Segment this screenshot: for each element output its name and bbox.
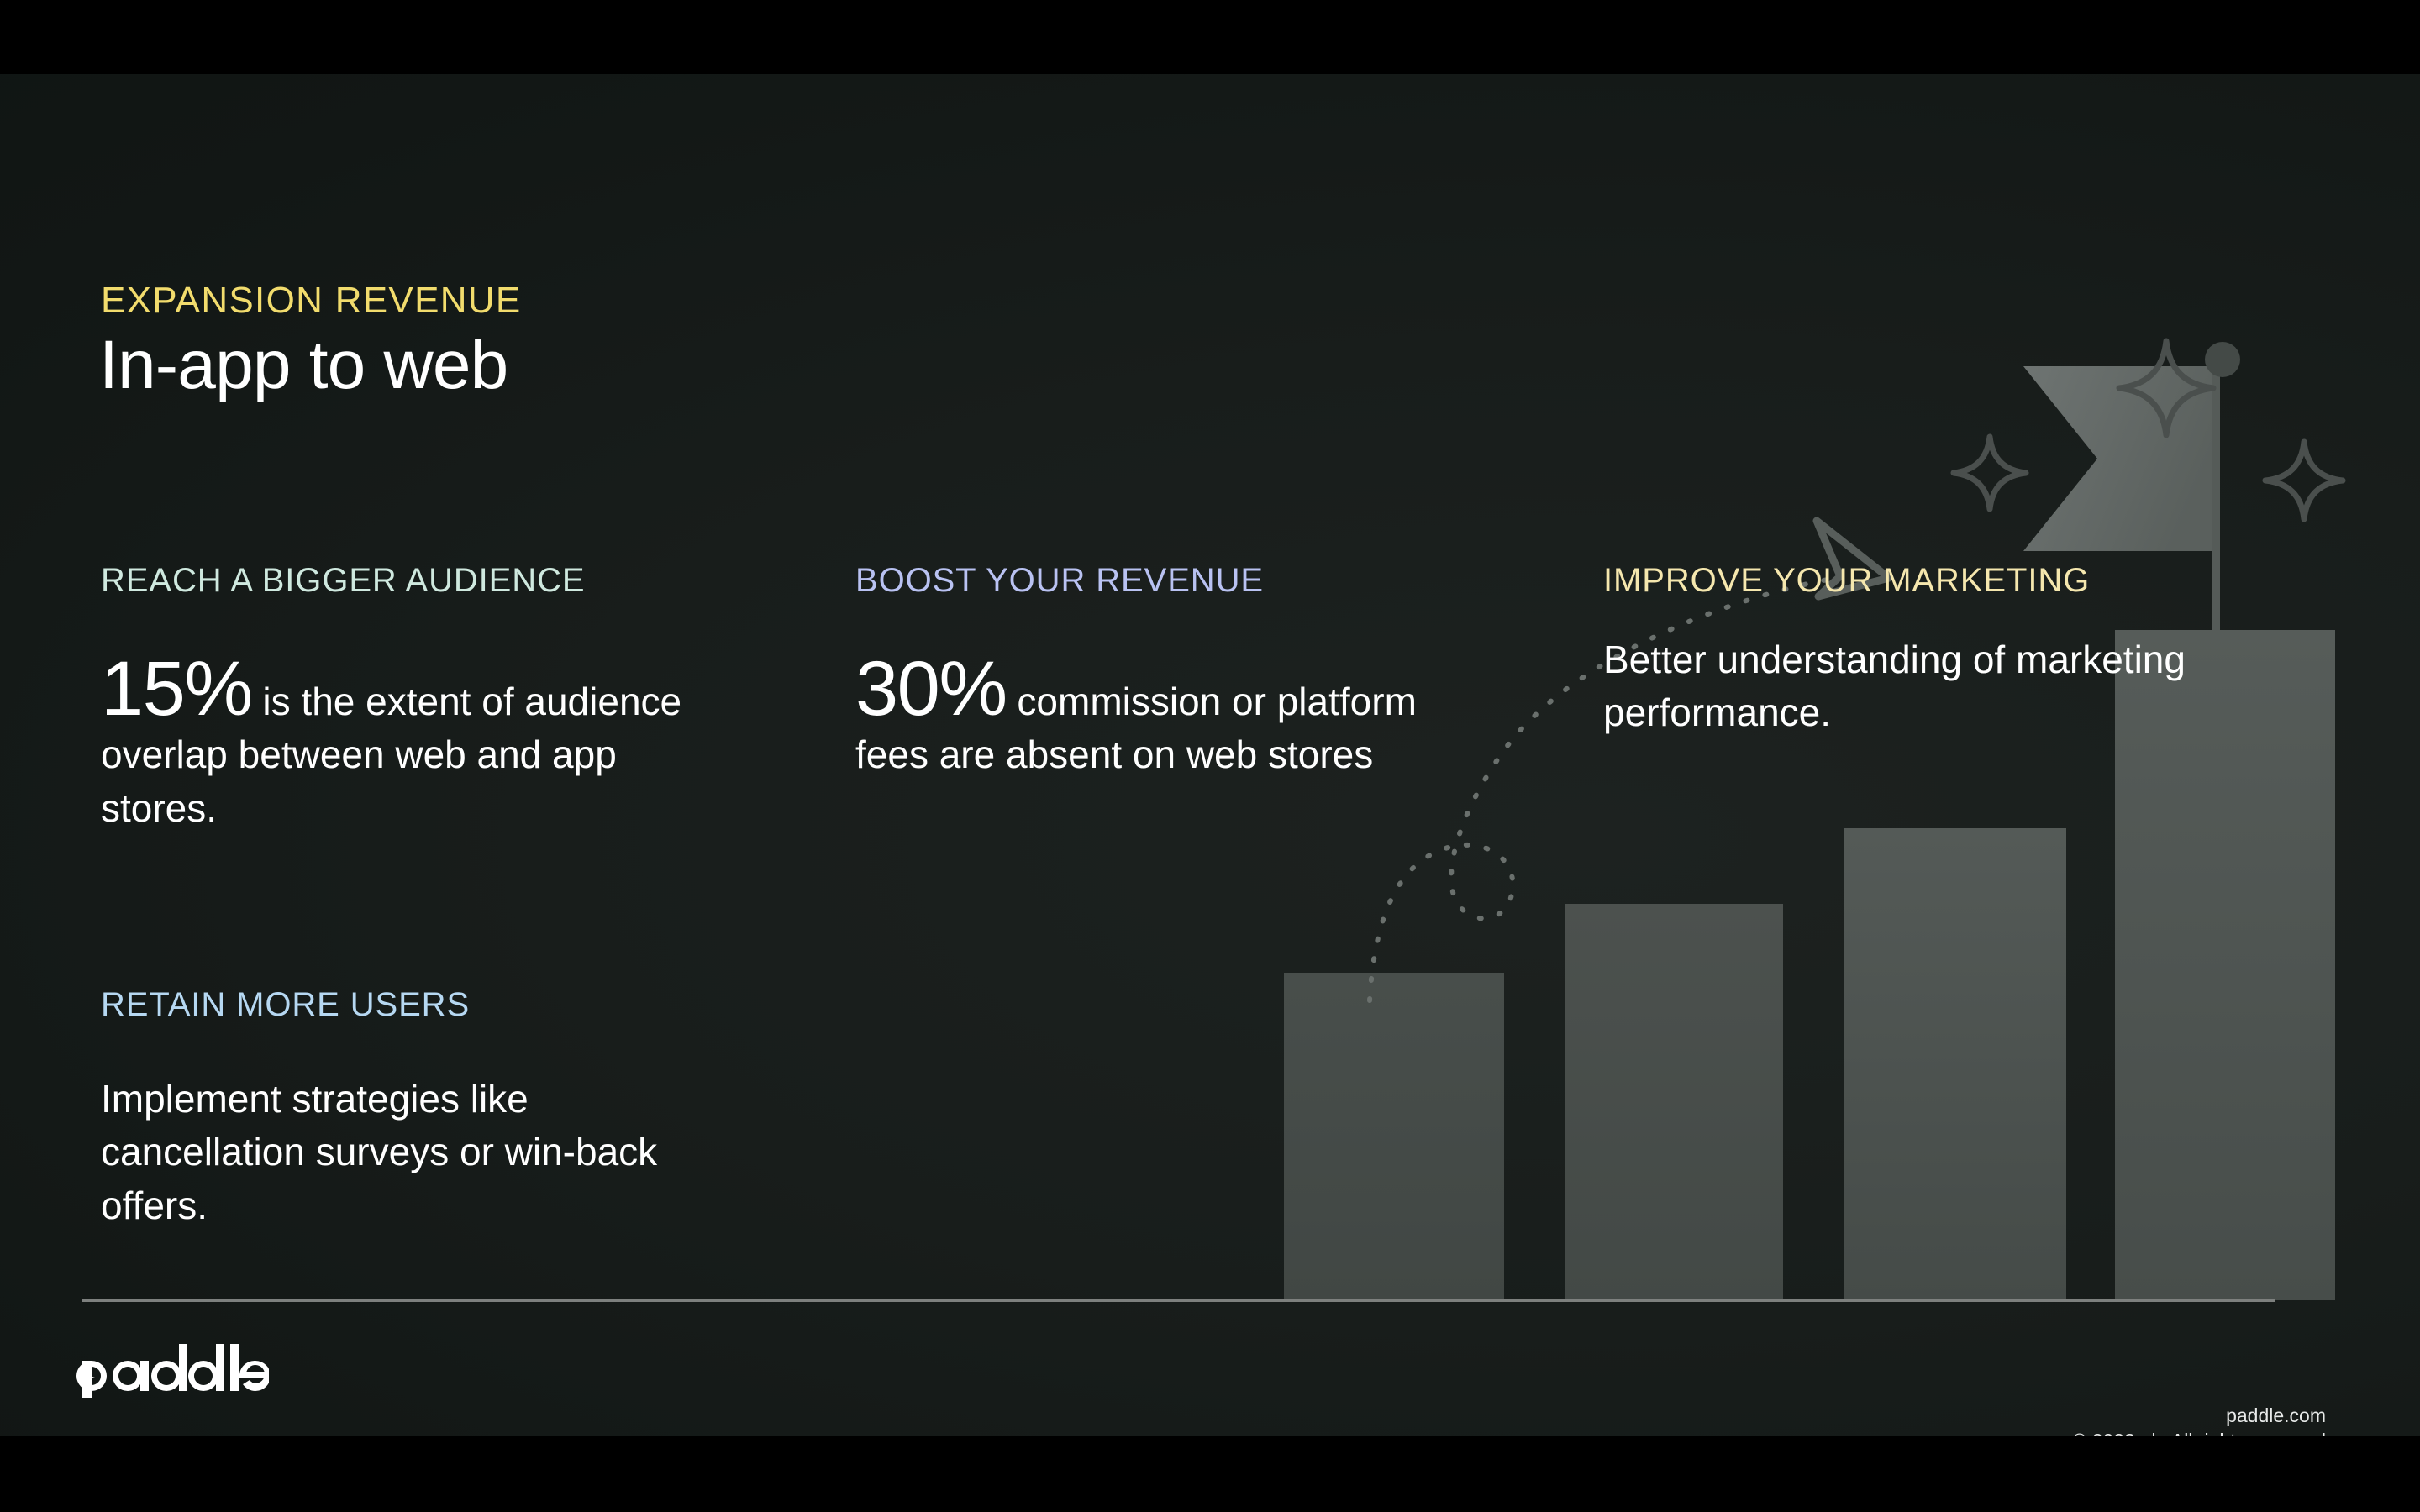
stat-value-revenue: 30% <box>855 646 1007 732</box>
body-text-marketing: Better understanding of marketing perfor… <box>1603 633 2191 740</box>
stat-tail-audience: is the extent of <box>252 680 514 723</box>
body-text-retain: Implement strategies like cancellation s… <box>101 1073 689 1232</box>
paddle-logo <box>74 1341 269 1405</box>
sparkle-icon-left <box>1954 437 2026 509</box>
stat-value-audience: 15% <box>101 646 252 732</box>
sparkle-icon-top <box>2119 341 2213 435</box>
bar-3 <box>1844 828 2066 1300</box>
column-retain-users: RETAIN MORE USERS Implement strategies l… <box>101 985 689 1232</box>
flag-finial <box>2205 342 2240 377</box>
bar-1 <box>1284 973 1504 1300</box>
stat-block-audience: 15% is the extent of audience overlap be… <box>101 650 706 835</box>
flag-pole <box>2212 368 2220 630</box>
footer-meta: paddle.com © 2023 | All rights reserved <box>2072 1403 2326 1436</box>
flag-banner <box>2023 366 2218 551</box>
column-boost-revenue: BOOST YOUR REVENUE 30% commission or pla… <box>855 561 1427 782</box>
bar-2 <box>1565 904 1783 1300</box>
kicker-improve-marketing: IMPROVE YOUR MARKETING <box>1603 561 2191 600</box>
letterbox-bottom <box>0 1436 2420 1512</box>
slide-eyebrow: EXPANSION REVENUE <box>101 280 522 322</box>
sparkle-group <box>1954 341 2343 519</box>
page-title: In-app to web <box>99 326 508 405</box>
column-reach-audience: REACH A BIGGER AUDIENCE 15% is the exten… <box>101 561 706 835</box>
sparkle-icon-right <box>2265 442 2343 519</box>
paddle-wordmark-icon <box>74 1341 269 1401</box>
letterbox-top <box>0 0 2420 74</box>
footer-divider <box>82 1299 2275 1302</box>
slide-canvas: EXPANSION REVENUE In-app to web REACH A … <box>0 74 2420 1436</box>
stat-tail-revenue: commission or <box>1007 680 1266 723</box>
kicker-retain-users: RETAIN MORE USERS <box>101 985 689 1024</box>
slide-stage: EXPANSION REVENUE In-app to web REACH A … <box>0 0 2420 1512</box>
footer-website: paddle.com <box>2072 1403 2326 1428</box>
kicker-boost-revenue: BOOST YOUR REVENUE <box>855 561 1427 600</box>
stat-block-revenue: 30% commission or platform fees are abse… <box>855 650 1427 782</box>
column-improve-marketing: IMPROVE YOUR MARKETING Better understand… <box>1603 561 2191 740</box>
footer-copyright: © 2023 | All rights reserved <box>2072 1428 2326 1436</box>
kicker-reach-audience: REACH A BIGGER AUDIENCE <box>101 561 706 600</box>
